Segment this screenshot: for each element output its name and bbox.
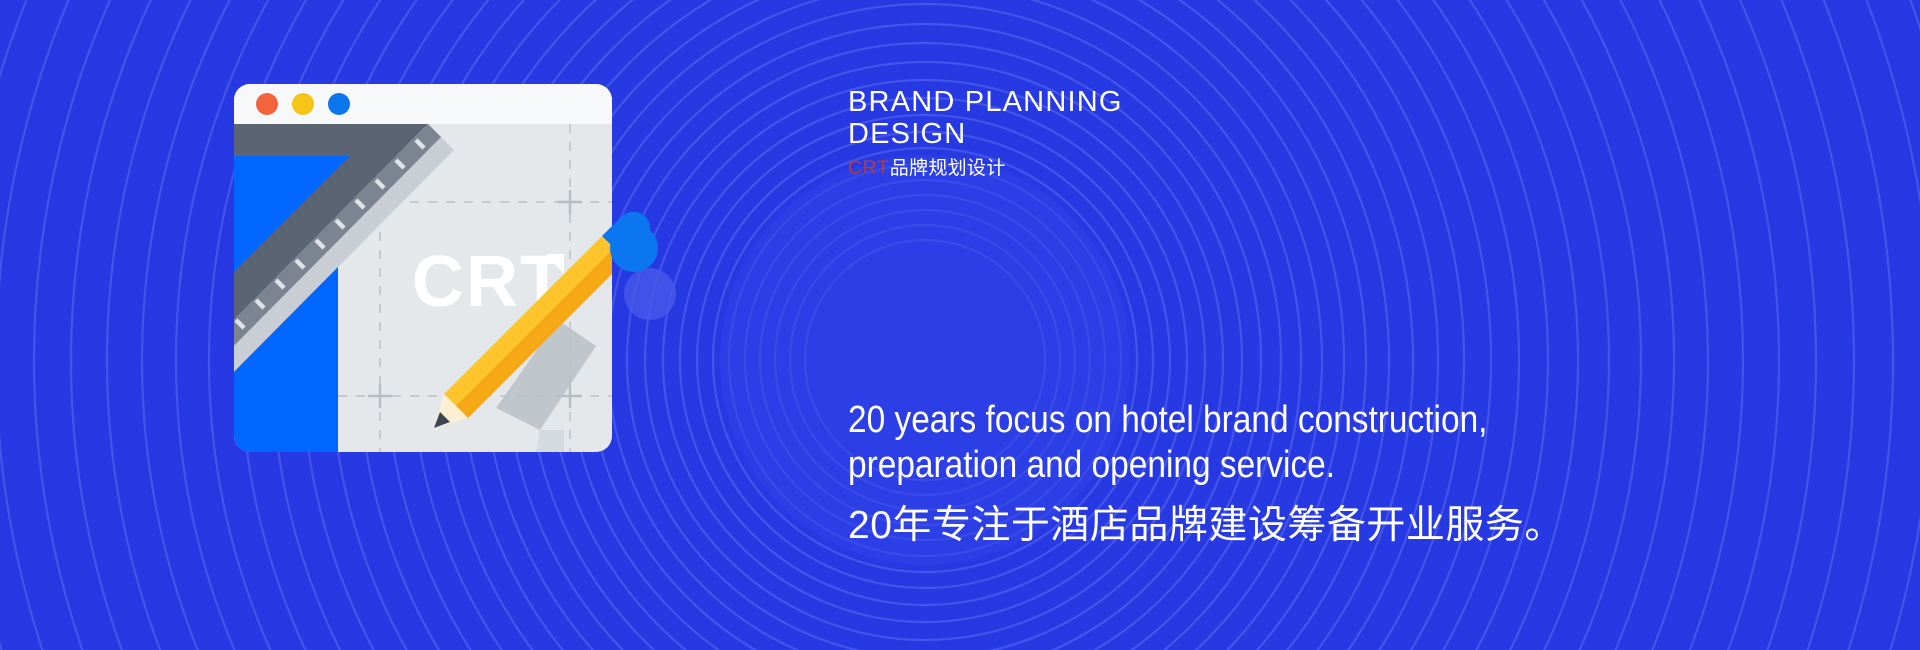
pencil-cap-group <box>602 212 676 320</box>
pencil-shadow-tail <box>536 430 564 452</box>
heading-group: BRAND PLANNING DESIGN CRT品牌规划设计 <box>848 86 1548 181</box>
brand-design-illustration: CRT <box>228 78 690 458</box>
browser-card: CRT <box>228 84 626 452</box>
banner-text-block: BRAND PLANNING DESIGN CRT品牌规划设计 20 years… <box>848 0 1808 650</box>
subheading-chinese-text: 品牌规划设计 <box>890 158 1006 179</box>
tagline-english-line-1: 20 years focus on hotel brand constructi… <box>848 398 1658 443</box>
heading-line-1: BRAND PLANNING <box>848 86 1548 118</box>
subheading: CRT品牌规划设计 <box>848 157 1548 181</box>
pencil-cap-round <box>610 224 658 272</box>
tagline-english-line-2: preparation and opening service. <box>848 443 1658 488</box>
brand-banner: CRT <box>0 0 1920 650</box>
maximize-dot-icon[interactable] <box>328 93 350 115</box>
browser-title-bar <box>234 84 612 124</box>
tagline-chinese: 20年专注于酒店品牌建设筹备开业服务。 <box>848 498 1768 554</box>
minimize-dot-icon[interactable] <box>292 93 314 115</box>
subheading-brand-text: CRT <box>848 158 890 179</box>
tagline-group: 20 years focus on hotel brand constructi… <box>848 398 1768 554</box>
close-dot-icon[interactable] <box>256 93 278 115</box>
heading-line-2: DESIGN <box>848 118 1548 150</box>
window-controls[interactable] <box>256 93 350 115</box>
pencil-cap-shadow <box>624 268 676 320</box>
